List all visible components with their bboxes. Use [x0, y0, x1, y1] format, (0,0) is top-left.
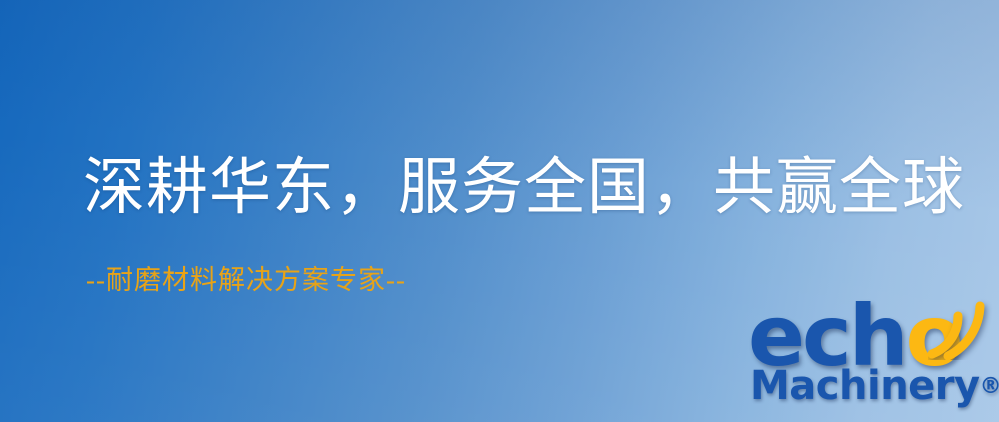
hero-banner: 深耕华东，服务全国，共赢全球 --耐磨材料解决方案专家-- echo Machi…	[0, 0, 999, 422]
registered-trademark-icon: ®	[980, 374, 999, 399]
logo-company-name-text: Machinery	[750, 363, 980, 409]
echo-wave-arcs-icon	[928, 294, 999, 360]
company-logo[interactable]: echo Machinery®	[742, 296, 999, 422]
banner-subtitle: --耐磨材料解决方案专家--	[86, 264, 406, 296]
logo-company-name: Machinery®	[750, 364, 999, 409]
banner-headline: 深耕华东，服务全国，共赢全球	[83, 152, 965, 224]
